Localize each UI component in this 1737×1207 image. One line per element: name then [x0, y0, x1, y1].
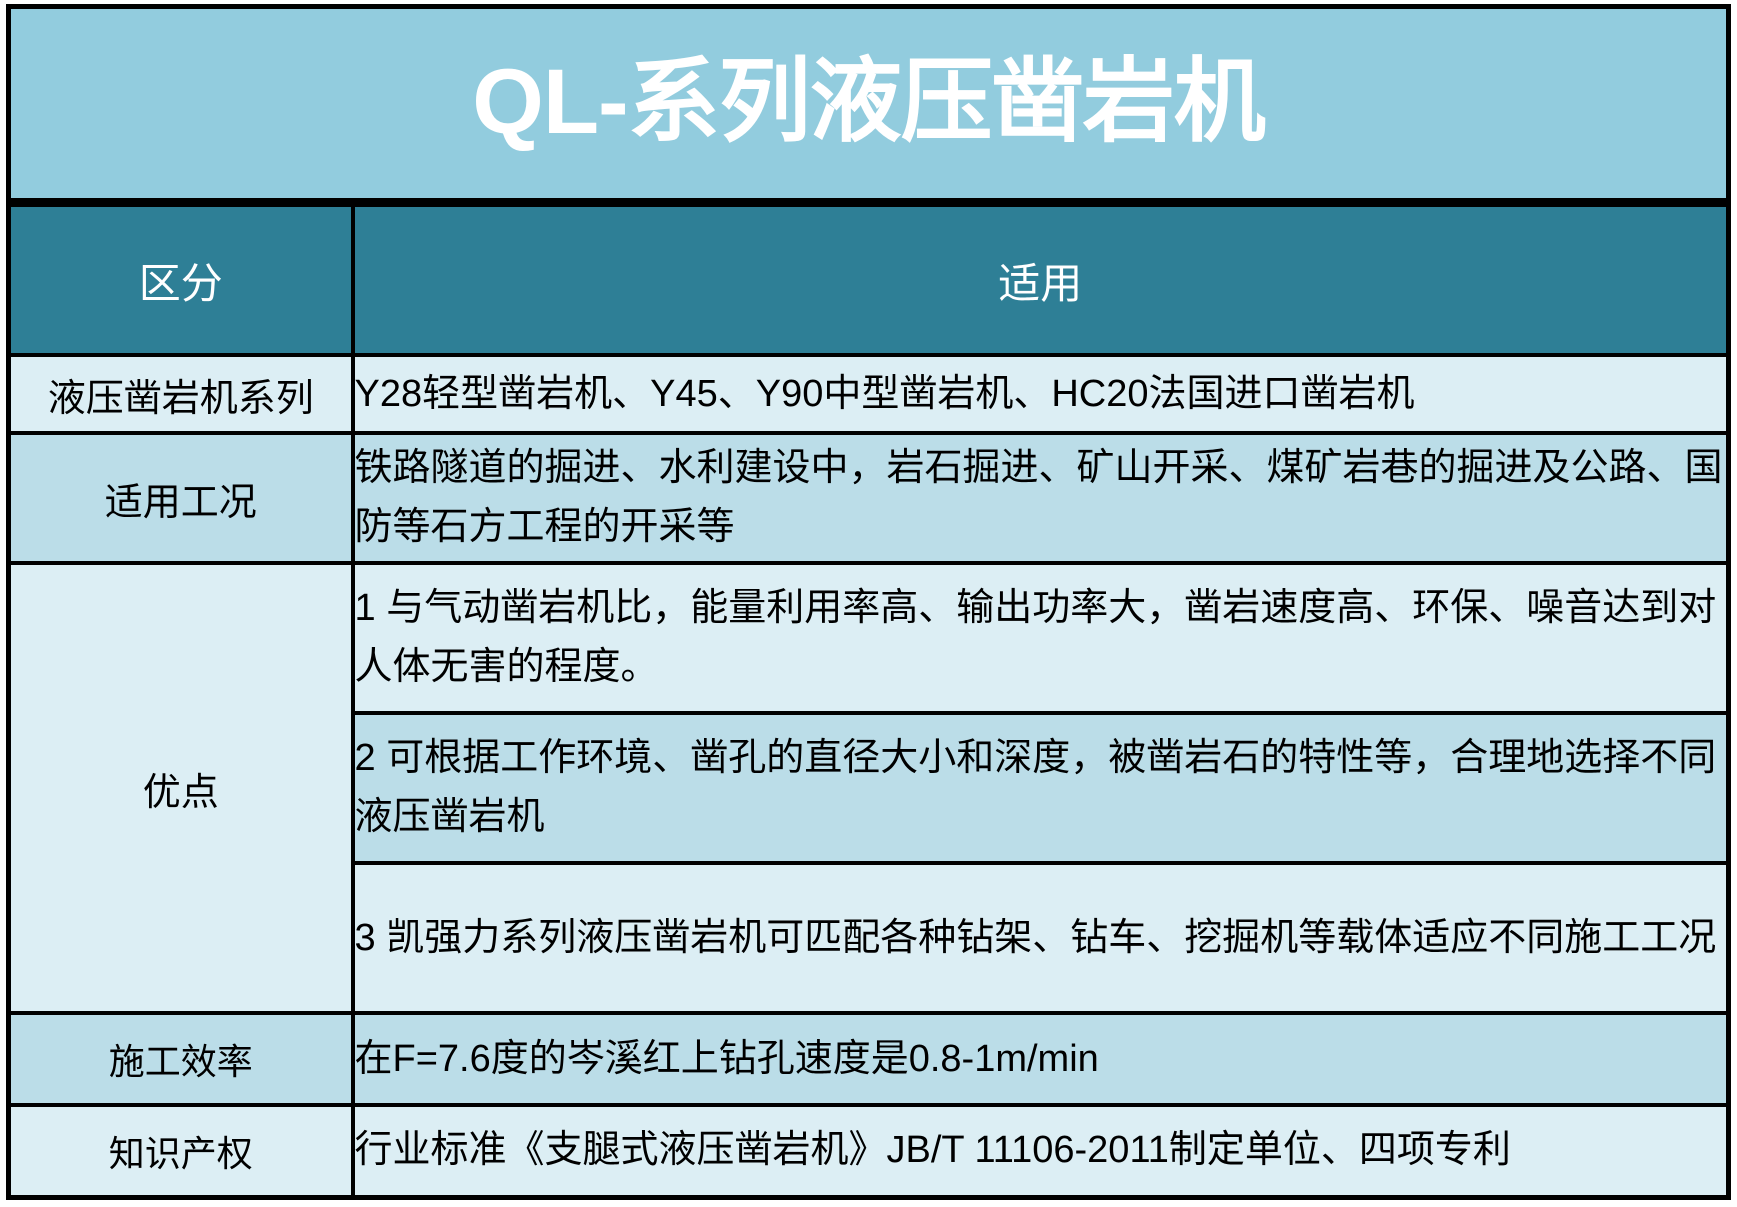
header-cell-application: 适用: [353, 205, 1729, 356]
row-value-efficiency: 在F=7.6度的岑溪红上钻孔速度是0.8-1m/min: [353, 1013, 1729, 1105]
row-value-ip: 行业标准《支腿式液压凿岩机》JB/T 11106-2011制定单位、四项专利: [353, 1105, 1729, 1197]
row-value-advantage-3: 3 凯强力系列液压凿岩机可匹配各种钻架、钻车、挖掘机等载体适应不同施工工况: [353, 863, 1729, 1013]
table-row: 液压凿岩机系列 Y28轻型凿岩机、Y45、Y90中型凿岩机、HC20法国进口凿岩…: [9, 355, 1729, 433]
row-value-series: Y28轻型凿岩机、Y45、Y90中型凿岩机、HC20法国进口凿岩机: [353, 355, 1729, 433]
table-header-row: 区分 适用: [9, 205, 1729, 356]
table-row: 优点 1 与气动凿岩机比，能量利用率高、输出功率大，凿岩速度高、环保、噪音达到对…: [9, 563, 1729, 713]
table-row: 适用工况 铁路隧道的掘进、水利建设中，岩石掘进、矿山开采、煤矿岩巷的掘进及公路、…: [9, 433, 1729, 563]
row-label-efficiency: 施工效率: [9, 1013, 353, 1105]
table-row: 知识产权 行业标准《支腿式液压凿岩机》JB/T 11106-2011制定单位、四…: [9, 1105, 1729, 1197]
specification-table: 区分 适用 液压凿岩机系列 Y28轻型凿岩机、Y45、Y90中型凿岩机、HC20…: [6, 202, 1731, 1200]
row-label-conditions: 适用工况: [9, 433, 353, 563]
row-label-series: 液压凿岩机系列: [9, 355, 353, 433]
table-row: 施工效率 在F=7.6度的岑溪红上钻孔速度是0.8-1m/min: [9, 1013, 1729, 1105]
row-value-advantage-2: 2 可根据工作环境、凿孔的直径大小和深度，被凿岩石的特性等，合理地选择不同液压凿…: [353, 713, 1729, 863]
row-value-advantage-1: 1 与气动凿岩机比，能量利用率高、输出功率大，凿岩速度高、环保、噪音达到对人体无…: [353, 563, 1729, 713]
page-title: QL-系列液压凿岩机: [472, 56, 1264, 148]
page-root: QL-系列液压凿岩机 区分 适用 液压凿岩机系列 Y28轻型凿岩机、Y45、Y9…: [0, 0, 1737, 1207]
row-value-conditions: 铁路隧道的掘进、水利建设中，岩石掘进、矿山开采、煤矿岩巷的掘进及公路、国防等石方…: [353, 433, 1729, 563]
row-label-advantages: 优点: [9, 563, 353, 1013]
title-banner: QL-系列液压凿岩机: [6, 4, 1731, 202]
header-cell-category: 区分: [9, 205, 353, 356]
row-label-ip: 知识产权: [9, 1105, 353, 1197]
